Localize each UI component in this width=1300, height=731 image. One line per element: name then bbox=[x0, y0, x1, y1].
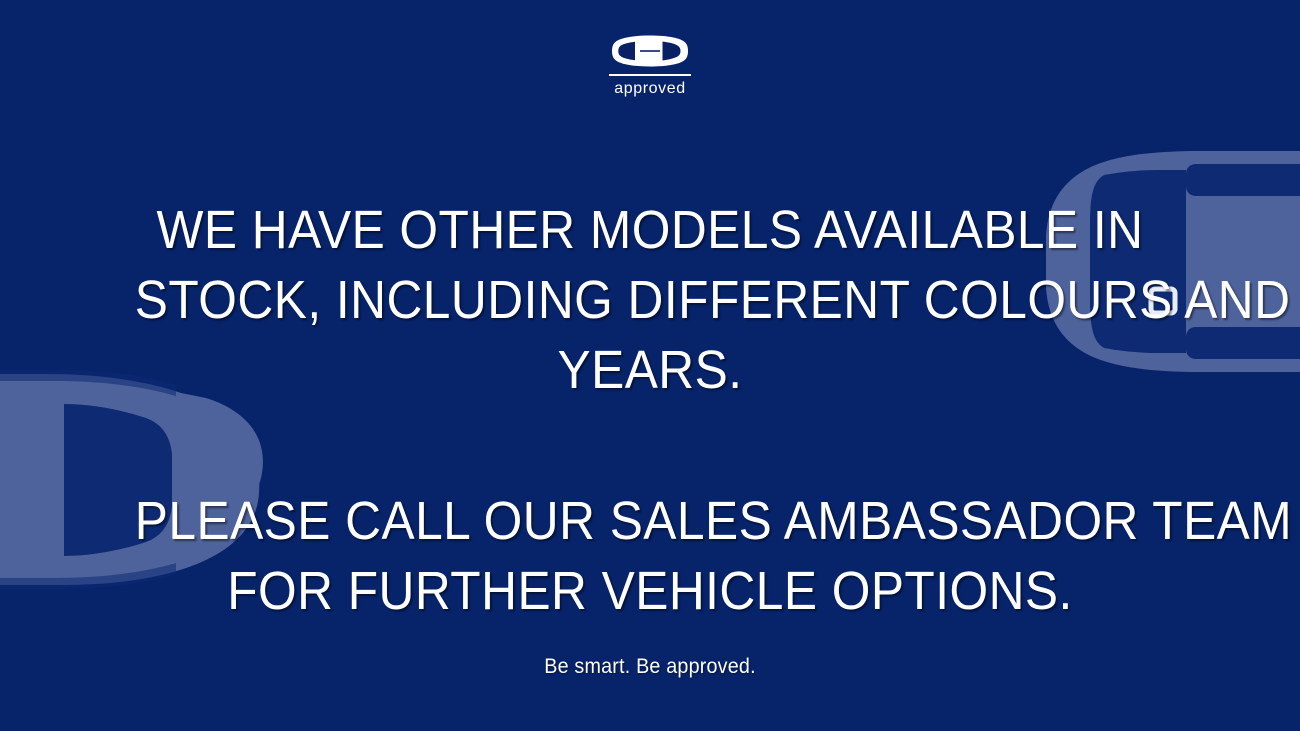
headline-line-3: YEARS. bbox=[135, 335, 1165, 405]
headline: WE HAVE OTHER MODELS AVAILABLE IN STOCK,… bbox=[135, 195, 1165, 405]
car-top-view-icon bbox=[611, 34, 689, 68]
logo-wordmark: approved bbox=[614, 81, 686, 97]
headline-line-2: STOCK, INCLUDING DIFFERENT COLOURS AND bbox=[135, 265, 1165, 335]
promotional-slide: approved WE HAVE OTHER MODELS AVAILABLE … bbox=[0, 0, 1300, 731]
tagline: Be smart. Be approved. bbox=[124, 653, 1177, 681]
subheadline: PLEASE CALL OUR SALES AMBASSADOR TEAM FO… bbox=[135, 486, 1165, 626]
logo-divider bbox=[609, 74, 691, 76]
headline-line-1: WE HAVE OTHER MODELS AVAILABLE IN bbox=[135, 195, 1165, 265]
subheadline-line-1: PLEASE CALL OUR SALES AMBASSADOR TEAM bbox=[135, 486, 1165, 556]
subheadline-line-2: FOR FURTHER VEHICLE OPTIONS. bbox=[135, 556, 1165, 626]
brand-logo: approved bbox=[0, 34, 1300, 97]
